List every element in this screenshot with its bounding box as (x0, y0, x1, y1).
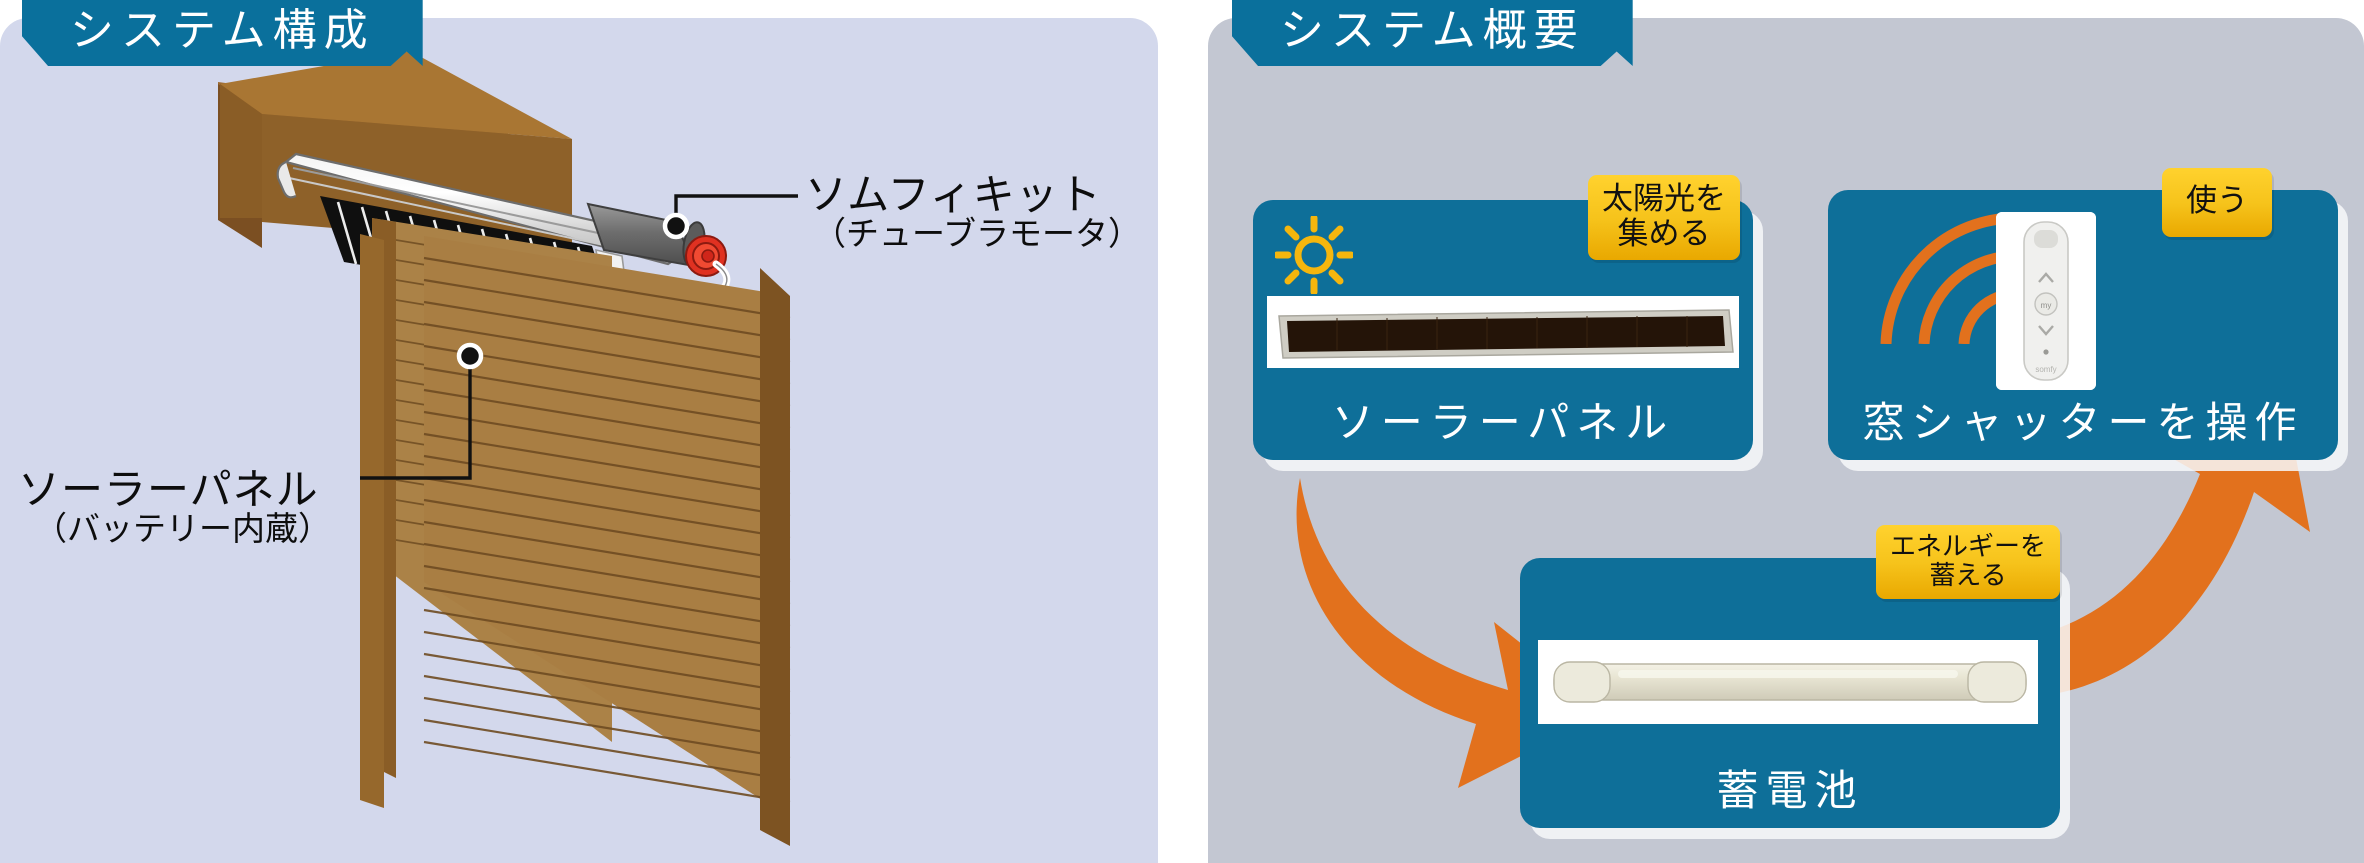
svg-text:somfy: somfy (2035, 365, 2056, 374)
badge-remote-line1: 使う (2186, 184, 2248, 219)
badge-use: 使う (2162, 168, 2272, 237)
sun-icon (1275, 216, 1353, 294)
callout-somfy-sub: （チューブラモータ） (805, 217, 1141, 251)
callout-somfy-main: ソムフィキット (805, 173, 1141, 217)
badge-battery-line1: エネルギーを (1890, 532, 2046, 561)
roller-shutter-illustration (0, 18, 1158, 863)
callout-solar-sub: （バッテリー内蔵） (18, 512, 331, 546)
card-title-window-shutter: 窓シャッターを操作 (1828, 400, 2338, 446)
panel-title-system-overview: システム概要 (1232, 0, 1633, 66)
card-title-solar-panel: ソーラーパネル (1253, 400, 1753, 446)
badge-store-energy: エネルギーを 蓄える (1876, 525, 2060, 599)
callout-label-somfy-kit: ソムフィキット （チューブラモータ） (805, 173, 1141, 251)
battery-tube-photo (1538, 640, 2038, 724)
shutter-curtain (372, 218, 790, 818)
system-configuration-panel: ソムフィキット （チューブラモータ） ソーラーパネル （バッテリー内蔵） (0, 18, 1158, 863)
screenshot-root: ソムフィキット （チューブラモータ） ソーラーパネル （バッテリー内蔵） (0, 0, 2364, 863)
badge-battery-line2: 蓄える (1890, 561, 2046, 590)
card-title-storage-battery: 蓄電池 (1520, 768, 2060, 814)
callout-label-solar-panel: ソーラーパネル （バッテリー内蔵） (18, 468, 331, 546)
badge-solar-line1: 太陽光を (1602, 182, 1726, 217)
callout-solar-main: ソーラーパネル (18, 468, 331, 512)
remote-control-photo: my somfy (1996, 212, 2096, 390)
panel-title-system-configuration: システム構成 (22, 0, 423, 66)
badge-solar-line2: 集める (1602, 217, 1726, 252)
solar-panel-photo (1267, 296, 1739, 368)
svg-text:my: my (2041, 301, 2052, 310)
badge-collect-sunlight: 太陽光を 集める (1588, 175, 1740, 260)
